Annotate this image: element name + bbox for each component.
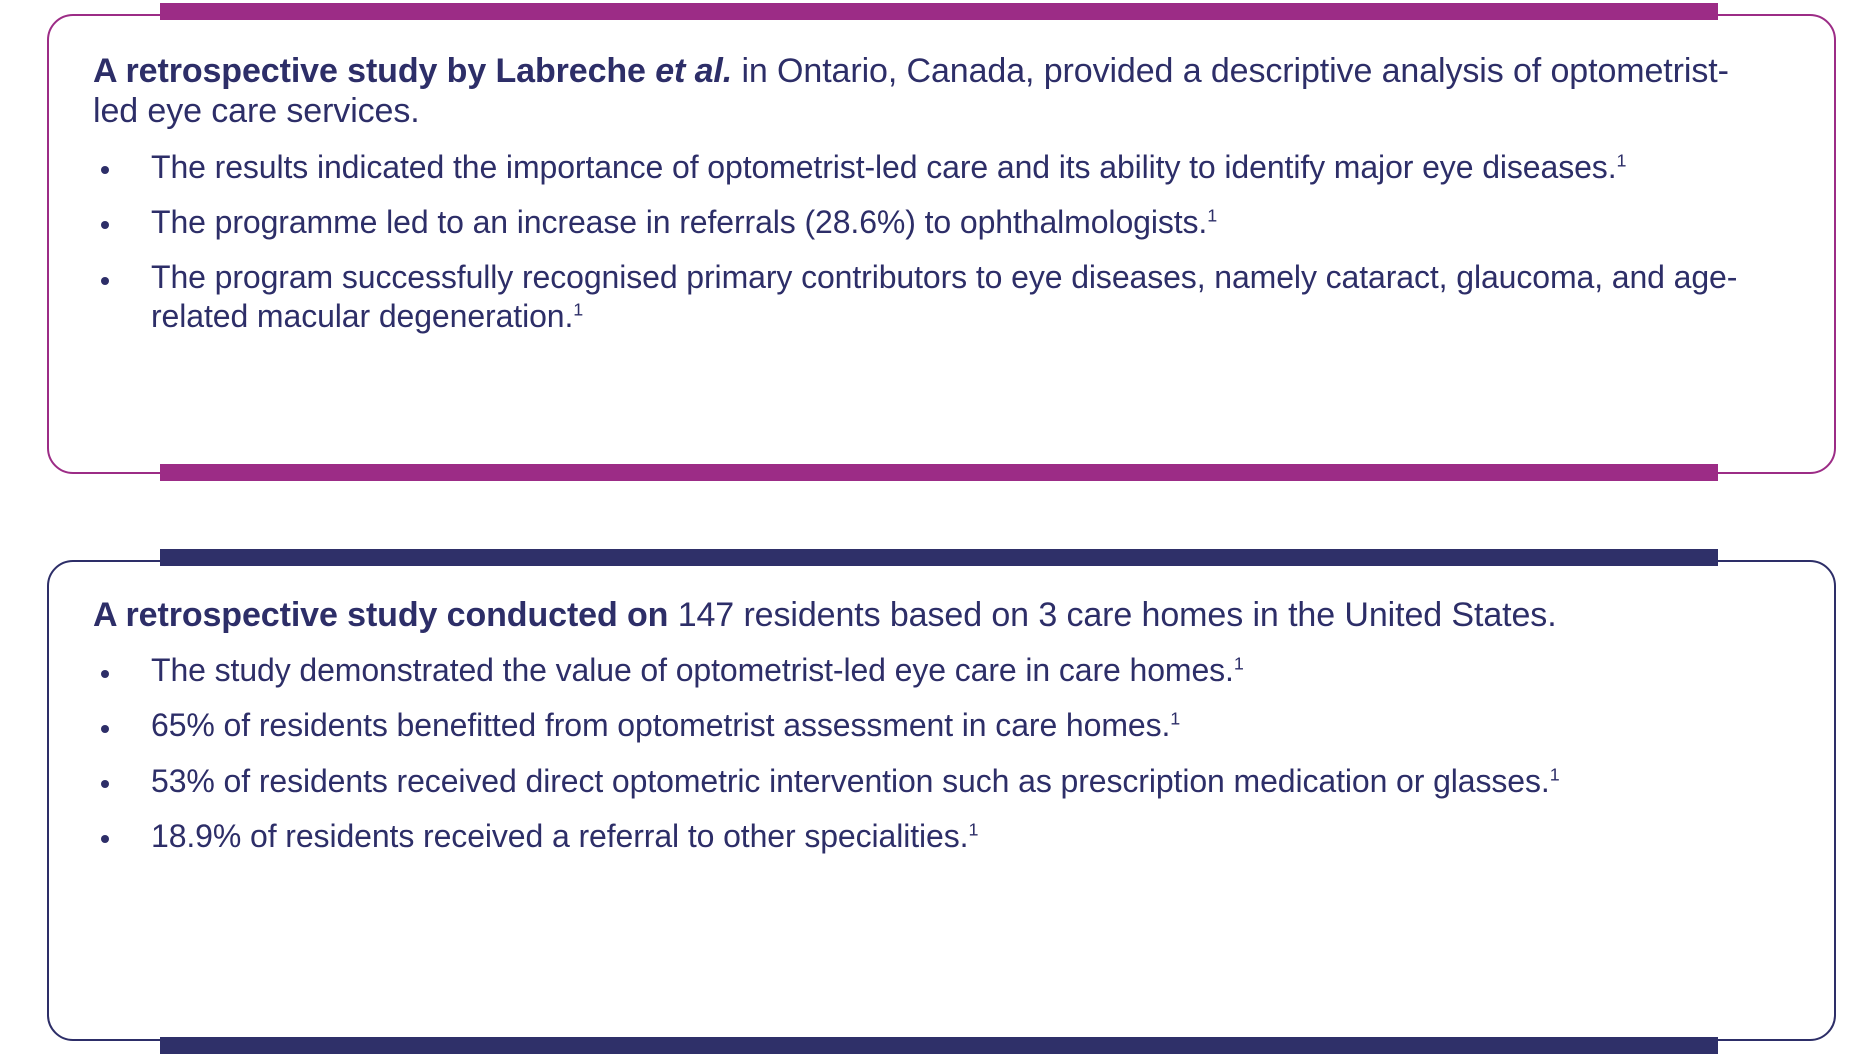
card-lede: A retrospective study by Labreche et al.… <box>93 51 1753 132</box>
list-item: 53% of residents received direct optomet… <box>93 762 1771 801</box>
bullet-dot-icon <box>101 725 109 733</box>
bullet-list: The results indicated the importance of … <box>93 148 1788 336</box>
study-card-care-homes: A retrospective study conducted on 147 r… <box>47 560 1836 1041</box>
list-item-text: 53% of residents received direct optomet… <box>151 763 1550 799</box>
list-item-text: 18.9% of residents received a referral t… <box>151 818 968 854</box>
reference-superscript: 1 <box>968 819 978 839</box>
list-item: The study demonstrated the value of opto… <box>93 651 1771 690</box>
bullet-dot-icon <box>101 835 109 843</box>
list-item: 65% of residents benefitted from optomet… <box>93 706 1771 745</box>
card-body: A retrospective study conducted on 147 r… <box>49 562 1834 872</box>
slide-canvas: A retrospective study by Labreche et al.… <box>0 0 1849 1063</box>
bullet-list: The study demonstrated the value of opto… <box>93 651 1788 855</box>
list-item-text: 65% of residents benefitted from optomet… <box>151 707 1170 743</box>
lede-bold-prefix: A retrospective study by Labreche <box>93 52 655 90</box>
card-lede: A retrospective study conducted on 147 r… <box>93 595 1753 635</box>
list-item-text: The program successfully recognised prim… <box>151 259 1737 334</box>
bullet-dot-icon <box>101 166 109 174</box>
list-item: The program successfully recognised prim… <box>93 258 1771 336</box>
card-one-top-accent-bar <box>160 3 1718 20</box>
list-item-text: The study demonstrated the value of opto… <box>151 652 1234 688</box>
reference-superscript: 1 <box>573 299 583 319</box>
list-item-text: The results indicated the importance of … <box>151 149 1616 185</box>
list-item: The programme led to an increase in refe… <box>93 203 1771 242</box>
reference-superscript: 1 <box>1234 654 1244 674</box>
reference-superscript: 1 <box>1550 764 1560 784</box>
bullet-dot-icon <box>101 277 109 285</box>
study-card-labreche: A retrospective study by Labreche et al.… <box>47 14 1836 474</box>
lede-bold-prefix: A retrospective study conducted on <box>93 596 668 634</box>
reference-superscript: 1 <box>1207 205 1217 225</box>
card-two-bottom-accent-bar <box>160 1037 1718 1054</box>
reference-superscript: 1 <box>1170 709 1180 729</box>
list-item-text: The programme led to an increase in refe… <box>151 204 1207 240</box>
bullet-dot-icon <box>101 780 109 788</box>
list-item: 18.9% of residents received a referral t… <box>93 817 1771 856</box>
lede-bold-italic: et al. <box>655 52 732 90</box>
bullet-dot-icon <box>101 670 109 678</box>
bullet-dot-icon <box>101 221 109 229</box>
list-item: The results indicated the importance of … <box>93 148 1771 187</box>
card-two-top-accent-bar <box>160 549 1718 566</box>
lede-rest: 147 residents based on 3 care homes in t… <box>668 596 1556 634</box>
card-body: A retrospective study by Labreche et al.… <box>49 16 1834 352</box>
card-one-bottom-accent-bar <box>160 464 1718 481</box>
reference-superscript: 1 <box>1616 150 1626 170</box>
